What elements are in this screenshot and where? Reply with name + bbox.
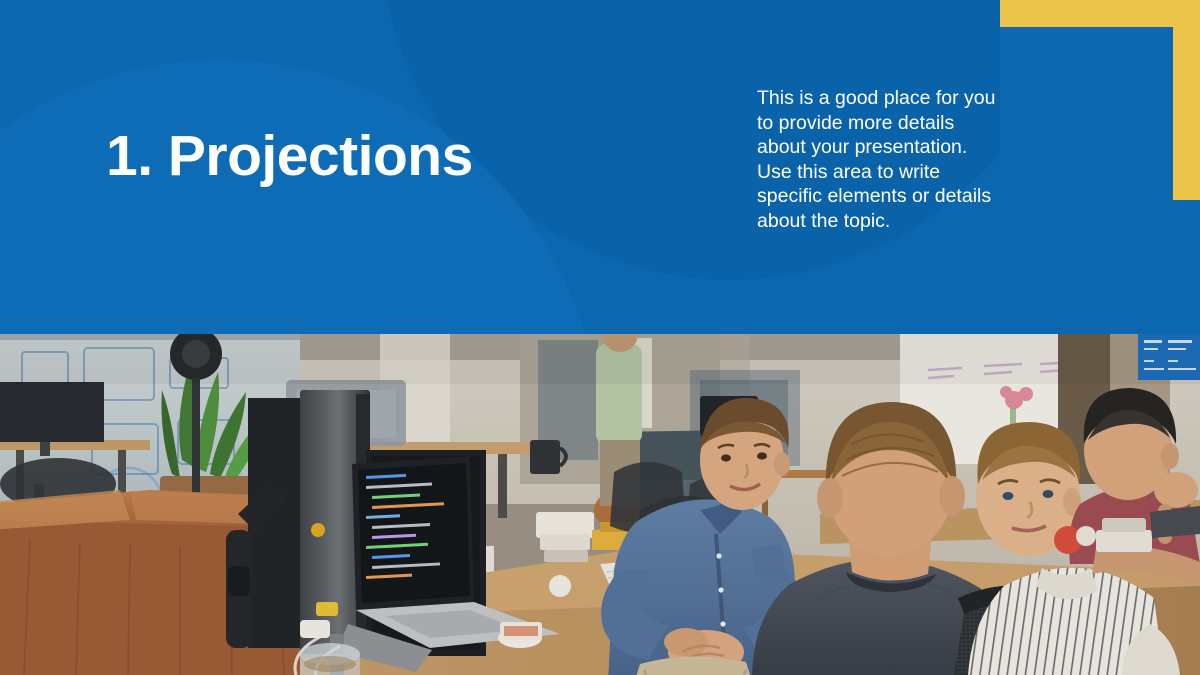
yellow-accent-inner-cutout xyxy=(1000,27,1173,200)
slide-body-text: This is a good place for you to provide … xyxy=(757,86,1002,234)
yellow-corner-accent xyxy=(1000,0,1200,200)
office-photo-illustration xyxy=(0,334,1200,675)
office-photo xyxy=(0,334,1200,675)
slide-canvas: 1. Projections This is a good place for … xyxy=(0,0,1200,675)
slide-title: 1. Projections xyxy=(106,128,473,185)
